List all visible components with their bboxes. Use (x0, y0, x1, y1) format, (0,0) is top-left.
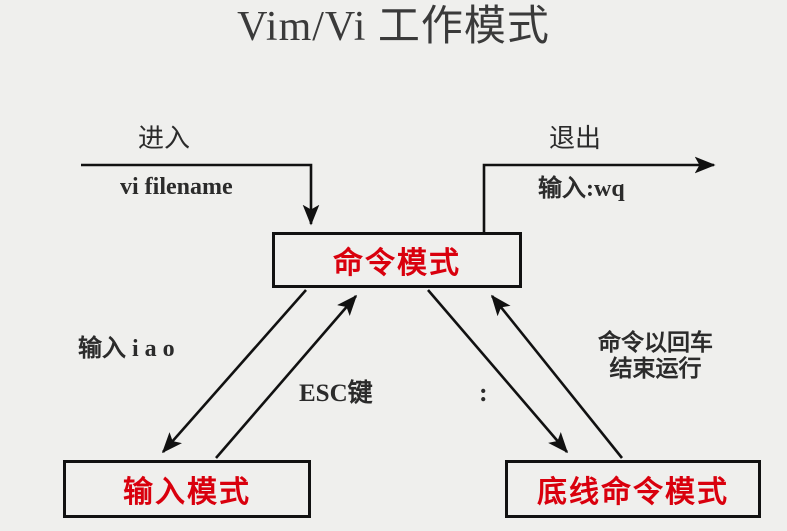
edge-command-insert-arrow (163, 290, 306, 452)
node-command-mode-label: 命令模式 (333, 238, 461, 282)
edge-command-lastline-arrow (428, 290, 567, 452)
edge-exit-label-cmd: 输入:wq (538, 176, 625, 203)
edge-lastline-command-label-line1: 命令以回车 (598, 330, 713, 356)
edge-enter-label-cmd: vi filename (120, 174, 233, 201)
edge-insert-command-arrow (216, 296, 356, 458)
edge-lastline-command-label: 命令以回车 结束运行 (598, 330, 713, 382)
node-insert-mode-label: 输入模式 (123, 467, 251, 511)
edge-command-insert-label: 输入 i a o (78, 336, 175, 363)
node-command-mode[interactable]: 命令模式 (272, 232, 522, 288)
edge-enter-label-cn: 进入 (138, 124, 190, 153)
edge-command-lastline-label: : (479, 378, 488, 407)
node-last-line-mode[interactable]: 底线命令模式 (505, 460, 761, 518)
node-insert-mode[interactable]: 输入模式 (63, 460, 311, 518)
node-last-line-mode-label: 底线命令模式 (537, 467, 729, 511)
edge-exit-label-cn: 退出 (549, 124, 601, 153)
diagram-canvas: Vim/Vi 工作模式 进入 vi (0, 0, 787, 531)
edge-insert-command-label: ESC键 (299, 380, 373, 408)
edge-lastline-command-label-line2: 结束运行 (598, 356, 713, 382)
